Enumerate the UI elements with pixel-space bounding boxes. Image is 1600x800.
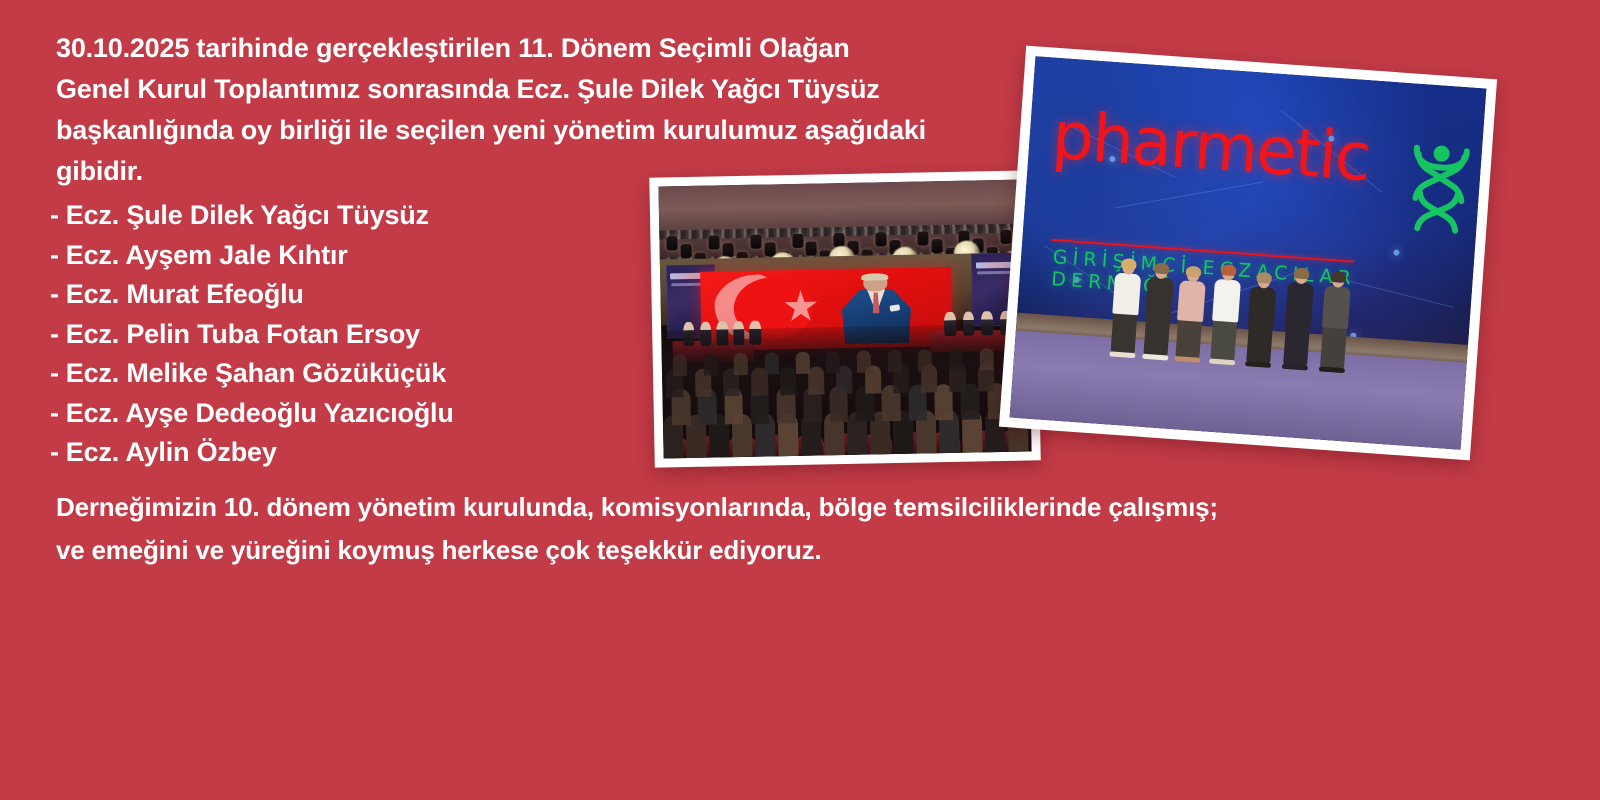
member-name: Ecz. Aylin Özbey xyxy=(66,437,277,467)
stage-lamp xyxy=(681,244,692,258)
photo-conference-hall-image xyxy=(658,179,1031,458)
list-item: -Ecz. Pelin Tuba Fotan Ersoy xyxy=(50,315,610,355)
stage-lamp xyxy=(931,240,942,254)
list-item: -Ecz. Aylin Özbey xyxy=(50,433,610,473)
list-marker: - xyxy=(50,358,59,388)
list-marker: - xyxy=(50,437,59,467)
audience-head xyxy=(673,355,687,377)
stage-lamp xyxy=(806,242,817,256)
side-banner-subtitle xyxy=(977,271,1011,274)
audience-head xyxy=(826,352,840,374)
photo-conference-hall xyxy=(649,170,1040,467)
list-marker: - xyxy=(50,279,59,309)
figure-hair xyxy=(1256,271,1272,283)
figure-legs xyxy=(1246,323,1273,364)
member-name: Ecz. Ayşe Dedeoğlu Yazıcıoğlu xyxy=(66,398,454,428)
figure-legs xyxy=(1176,318,1203,359)
figure-legs xyxy=(1143,314,1170,356)
audience-head xyxy=(979,349,993,371)
photo-board-on-stage: pharmetic GİRİŞİMCİ ECZACILAR DERNEĞİ xyxy=(999,46,1497,461)
member-name: Ecz. Şule Dilek Yağcı Tüysüz xyxy=(66,200,429,230)
board-member-figure xyxy=(1140,264,1176,356)
list-marker: - xyxy=(50,240,59,270)
figure-legs xyxy=(1110,312,1137,354)
figure-hair xyxy=(1330,271,1346,283)
audience-head xyxy=(780,367,797,395)
figure-legs xyxy=(1320,326,1347,369)
photo-board-on-stage-image: pharmetic GİRİŞİMCİ ECZACILAR DERNEĞİ xyxy=(1010,56,1487,449)
audience-area xyxy=(661,324,1031,459)
stage-lamp xyxy=(708,236,719,250)
board-member-figure xyxy=(1243,274,1279,364)
portrait-hair xyxy=(861,273,888,281)
audience-head xyxy=(857,351,871,373)
figure-hair xyxy=(1121,258,1137,270)
list-marker: - xyxy=(50,200,59,230)
stage-lamp xyxy=(1001,230,1012,244)
figure-torso xyxy=(1285,282,1314,327)
figure-hair xyxy=(1294,267,1310,279)
audience-head xyxy=(949,349,963,371)
figure-hair xyxy=(1153,262,1169,274)
stage-lamp xyxy=(667,237,678,251)
member-name: Ecz. Ayşem Jale Kıhtır xyxy=(66,240,348,270)
figure-torso xyxy=(1177,280,1206,322)
list-item: -Ecz. Ayşem Jale Kıhtır xyxy=(50,236,610,276)
stage-lamp xyxy=(917,232,928,246)
audience-head xyxy=(734,353,748,375)
member-name: Ecz. Melike Şahan Gözüküçük xyxy=(66,358,446,388)
intro-paragraph: 30.10.2025 tarihinde gerçekleştirilen 11… xyxy=(56,28,936,192)
list-item: -Ecz. Ayşe Dedeoğlu Yazıcıoğlu xyxy=(50,394,610,434)
audience-head xyxy=(795,352,809,374)
audience-head xyxy=(918,350,932,372)
list-item: -Ecz. Melike Şahan Gözüküçük xyxy=(50,354,610,394)
figure-torso xyxy=(1247,286,1276,328)
member-name: Ecz. Pelin Tuba Fotan Ersoy xyxy=(66,319,420,349)
board-member-figure xyxy=(1173,268,1209,359)
stage-lamp xyxy=(750,235,761,249)
figure-hair xyxy=(1186,265,1202,277)
poster-canvas: 30.10.2025 tarihinde gerçekleştirilen 11… xyxy=(0,0,1600,800)
figure-hair xyxy=(1220,264,1236,276)
figure-legs xyxy=(1283,322,1310,366)
member-name: Ecz. Murat Efeoğlu xyxy=(66,279,304,309)
network-node xyxy=(1393,249,1399,255)
dna-person-icon xyxy=(1405,141,1473,237)
audience-head xyxy=(808,366,825,394)
stage-lamp xyxy=(875,233,886,247)
figure-legs xyxy=(1210,318,1237,361)
board-member-list: -Ecz. Şule Dilek Yağcı Tüysüz -Ecz. Ayşe… xyxy=(50,196,610,473)
audience-head xyxy=(765,353,779,375)
figure-torso xyxy=(1212,278,1241,322)
outro-paragraph: Derneğimizin 10. dönem yönetim kurulunda… xyxy=(56,486,1276,572)
figure-torso xyxy=(1322,285,1351,329)
portrait-pocket-square xyxy=(890,304,901,311)
list-marker: - xyxy=(50,398,59,428)
list-item: -Ecz. Murat Efeoğlu xyxy=(50,275,610,315)
dna-person-head xyxy=(1433,145,1450,162)
list-item: -Ecz. Şule Dilek Yağcı Tüysüz xyxy=(50,196,610,236)
figure-torso xyxy=(1145,276,1174,319)
figure-torso xyxy=(1112,272,1141,315)
audience-head xyxy=(703,354,717,376)
list-marker: - xyxy=(50,319,59,349)
audience-head xyxy=(887,350,901,372)
stage-lamp xyxy=(792,234,803,248)
